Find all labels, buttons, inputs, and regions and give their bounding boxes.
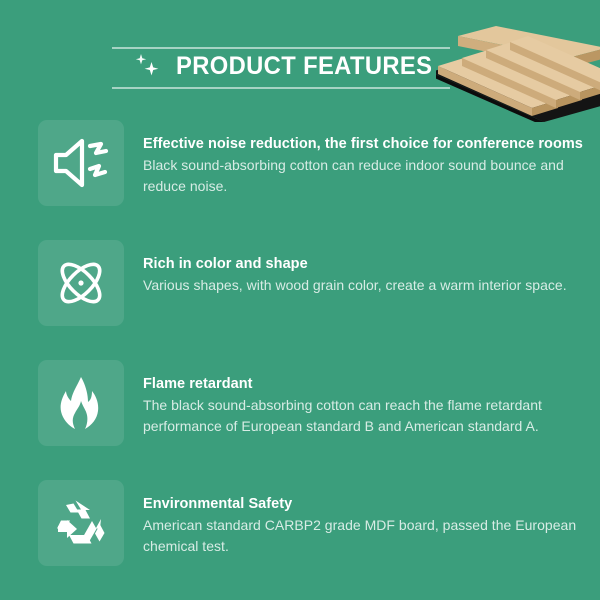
feature-title: Effective noise reduction, the first cho… (143, 134, 591, 154)
atom-icon (38, 240, 124, 326)
sparkle-icon (132, 52, 172, 80)
feature-text: Effective noise reduction, the first cho… (143, 134, 591, 197)
feature-text: Flame retardant The black sound-absorbin… (143, 374, 591, 437)
product-features-poster: PRODUCT FEATURES Effective noise reducti… (0, 0, 600, 600)
feature-description: Various shapes, with wood grain color, c… (143, 275, 591, 296)
feature-row: Environmental Safety American standard C… (0, 478, 600, 598)
feature-text: Rich in color and shape Various shapes, … (143, 254, 591, 296)
header-rule-bottom (112, 87, 450, 89)
speaker-sound-icon (38, 120, 124, 206)
wood-acoustic-panel-image (436, 0, 600, 122)
feature-description: Black sound-absorbing cotton can reduce … (143, 155, 591, 197)
feature-row: Effective noise reduction, the first cho… (0, 118, 600, 238)
header: PRODUCT FEATURES (112, 40, 450, 92)
feature-description: American standard CARBP2 grade MDF board… (143, 515, 591, 557)
header-rule-top (112, 47, 450, 49)
feature-row: Flame retardant The black sound-absorbin… (0, 358, 600, 478)
recycle-icon (38, 480, 124, 566)
flame-icon (38, 360, 124, 446)
feature-title: Environmental Safety (143, 494, 591, 514)
features-list: Effective noise reduction, the first cho… (0, 118, 600, 598)
feature-title: Flame retardant (143, 374, 591, 394)
feature-row: Rich in color and shape Various shapes, … (0, 238, 600, 358)
feature-text: Environmental Safety American standard C… (143, 494, 591, 557)
feature-title: Rich in color and shape (143, 254, 591, 274)
feature-description: The black sound-absorbing cotton can rea… (143, 395, 591, 437)
page-title: PRODUCT FEATURES (176, 51, 432, 81)
